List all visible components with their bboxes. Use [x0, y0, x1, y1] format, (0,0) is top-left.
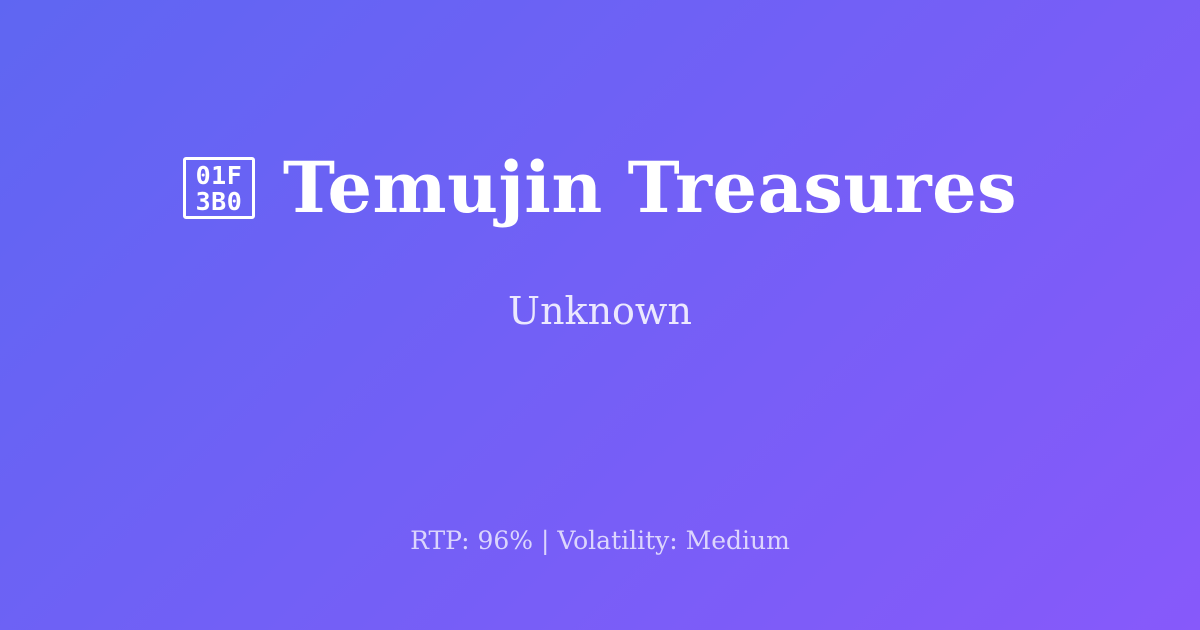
- slot-machine-icon-codepoint-bottom: 3B0: [196, 189, 243, 215]
- game-og-card: 01F 3B0 Temujin Treasures Unknown RTP: 9…: [0, 0, 1200, 630]
- title-row: 01F 3B0 Temujin Treasures: [183, 148, 1017, 228]
- slot-machine-icon-codepoint-top: 01F: [196, 163, 243, 189]
- page-title: Temujin Treasures: [283, 148, 1017, 228]
- card-meta-stats: RTP: 96% | Volatility: Medium: [0, 525, 1200, 557]
- slot-machine-icon: 01F 3B0: [183, 157, 255, 219]
- card-subtitle: Unknown: [508, 288, 692, 334]
- card-hero: 01F 3B0 Temujin Treasures Unknown: [0, 0, 1200, 482]
